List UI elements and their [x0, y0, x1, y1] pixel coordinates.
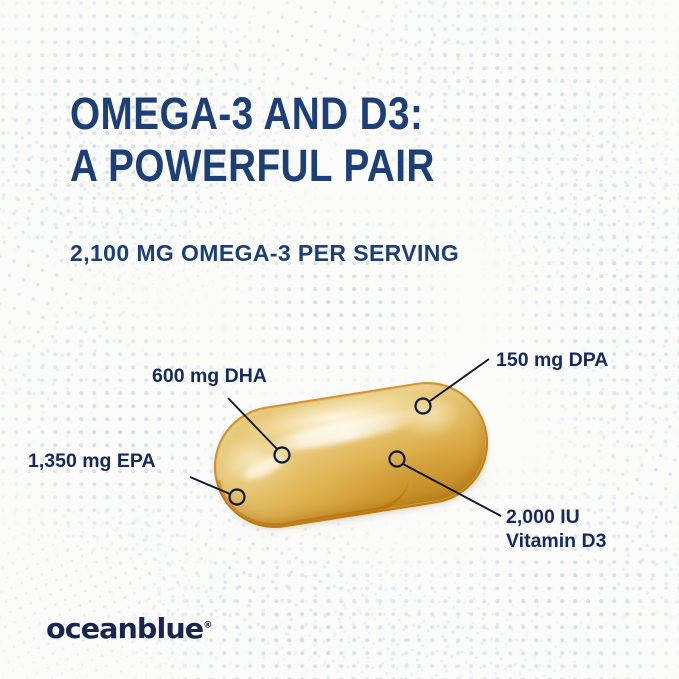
callout-label-dha: 600 mg DHA [152, 364, 267, 388]
page-title: OMEGA-3 AND D3: A POWERFUL PAIR [70, 88, 552, 192]
callout-label-epa: 1,350 mg EPA [28, 449, 156, 473]
softgel-capsule-image [205, 388, 497, 528]
callout-label-vitamin-d3: 2,000 IU Vitamin D3 [506, 505, 606, 553]
brand-logo: oceanblue® [46, 612, 212, 645]
capsule-body [205, 373, 497, 537]
brand-logo-text: oceanblue [46, 612, 203, 645]
infographic-canvas: OMEGA-3 AND D3: A POWERFUL PAIR 2,100 MG… [0, 0, 679, 679]
registered-trademark-icon: ® [203, 621, 212, 631]
callout-label-dpa: 150 mg DPA [496, 348, 608, 372]
subtitle: 2,100 MG OMEGA-3 PER SERVING [70, 240, 459, 267]
